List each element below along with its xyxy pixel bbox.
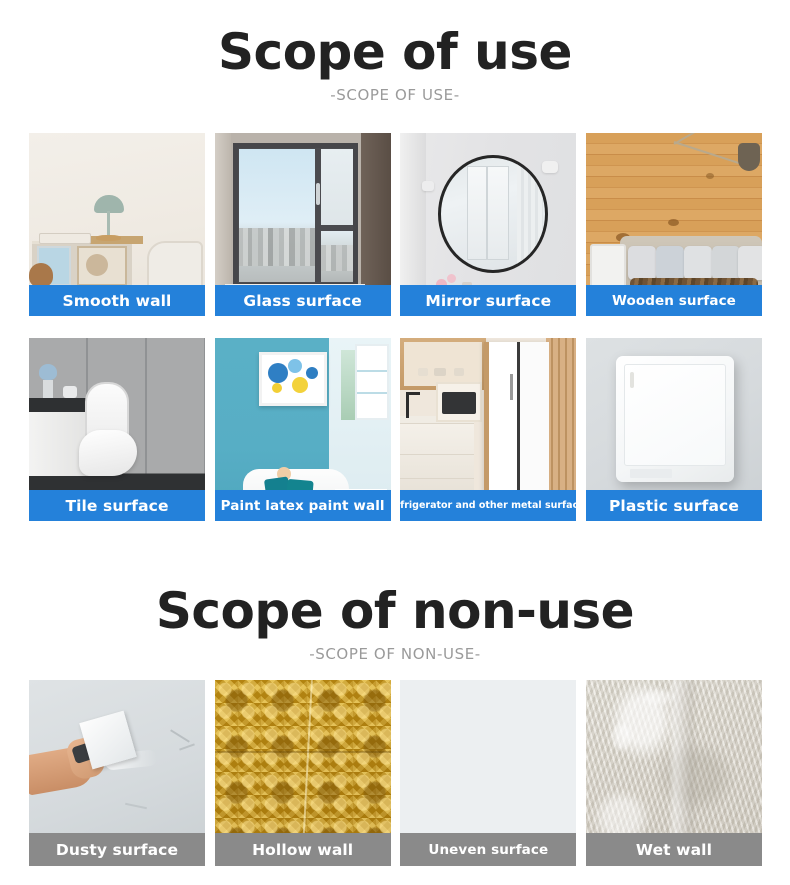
page-subtitle-scope-of-non-use: -SCOPE OF NON-USE- xyxy=(0,645,790,663)
card-smooth-wall[interactable]: Smooth wall xyxy=(29,133,205,316)
card-tile-surface[interactable]: Tile surface xyxy=(29,338,205,521)
card-uneven-surface[interactable]: Uneven surface xyxy=(400,680,576,866)
card-label-refrigerator-metal-surfaces: Refrigerator and other metal surfaces xyxy=(400,490,576,521)
card-paint-latex-paint-wall[interactable]: Paint latex paint wall xyxy=(215,338,391,521)
card-hollow-wall[interactable]: Hollow wall xyxy=(215,680,391,866)
scope-of-non-use-row-1: Dusty surface Hollow wall Uneven surface… xyxy=(29,680,762,866)
card-label-wooden-surface: Wooden surface xyxy=(586,285,762,316)
card-label-smooth-wall: Smooth wall xyxy=(29,285,205,316)
page-subtitle-scope-of-use: -SCOPE OF USE- xyxy=(0,86,790,104)
card-label-glass-surface: Glass surface xyxy=(215,285,391,316)
card-plastic-surface[interactable]: Plastic surface xyxy=(586,338,762,521)
card-refrigerator-metal-surfaces[interactable]: Refrigerator and other metal surfaces xyxy=(400,338,576,521)
card-label-uneven-surface: Uneven surface xyxy=(400,833,576,866)
card-label-tile-surface: Tile surface xyxy=(29,490,205,521)
card-label-wet-wall: Wet wall xyxy=(586,833,762,866)
scope-of-use-row-1: Smooth wall Glass surface Mirror surface xyxy=(29,133,762,316)
card-label-plastic-surface: Plastic surface xyxy=(586,490,762,521)
page-title-scope-of-use: Scope of use xyxy=(0,26,790,79)
card-wooden-surface[interactable]: Wooden surface xyxy=(586,133,762,316)
scope-of-use-row-2: Tile surface Paint latex paint wall Refr… xyxy=(29,338,762,521)
page-title-scope-of-non-use: Scope of non-use xyxy=(0,585,790,638)
card-label-mirror-surface: Mirror surface xyxy=(400,285,576,316)
card-dusty-surface[interactable]: Dusty surface xyxy=(29,680,205,866)
card-label-paint-latex-paint-wall: Paint latex paint wall xyxy=(215,490,391,521)
card-label-dusty-surface: Dusty surface xyxy=(29,833,205,866)
card-label-hollow-wall: Hollow wall xyxy=(215,833,391,866)
scope-of-use-header: Scope of use -SCOPE OF USE- xyxy=(0,26,790,104)
card-wet-wall[interactable]: Wet wall xyxy=(586,680,762,866)
card-glass-surface[interactable]: Glass surface xyxy=(215,133,391,316)
scope-of-non-use-header: Scope of non-use -SCOPE OF NON-USE- xyxy=(0,585,790,663)
card-mirror-surface[interactable]: Mirror surface xyxy=(400,133,576,316)
